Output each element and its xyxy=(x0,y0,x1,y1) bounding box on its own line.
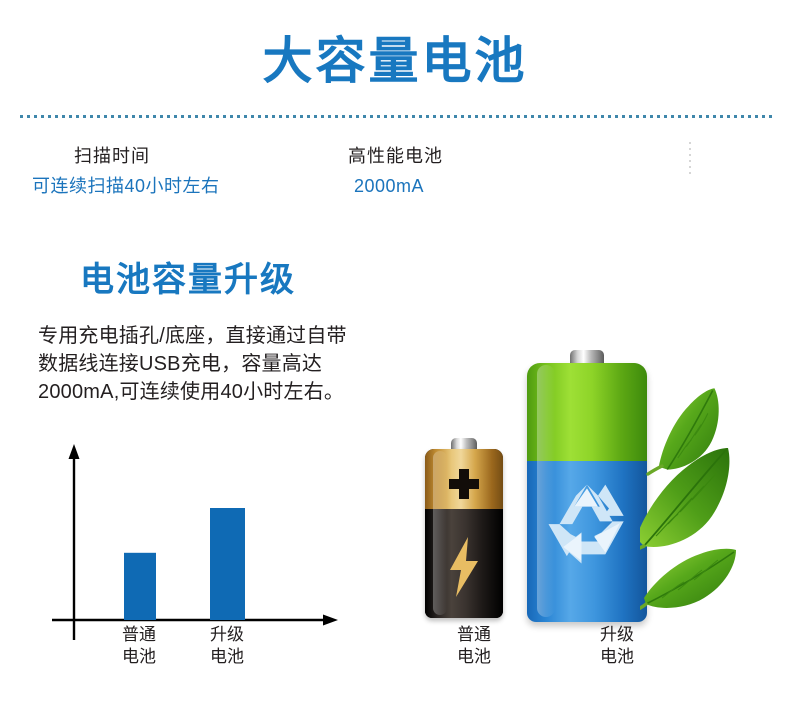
chart-category-label-upgraded: 升级 电池 xyxy=(192,624,262,668)
y-axis-arrowhead xyxy=(69,444,80,459)
battery-body xyxy=(425,449,503,618)
section-heading: 电池容量升级 xyxy=(80,258,296,302)
leaf-bottom xyxy=(640,549,736,612)
spec-value: 可连续扫描40小时左右 xyxy=(32,173,220,199)
spec-item-battery: 高性能电池 2000mA xyxy=(348,143,443,199)
battery-body xyxy=(527,363,647,622)
battery-gloss-highlight xyxy=(433,451,447,615)
upgraded-battery-icon xyxy=(527,350,647,622)
section-body-text: 专用充电插孔/底座，直接通过自带数据线连接USB充电，容量高达2000mA,可连… xyxy=(38,322,358,406)
battery-label-ordinary: 普通 电池 xyxy=(434,624,514,668)
spec-value: 2000mA xyxy=(348,173,443,199)
battery-gloss-highlight xyxy=(537,365,555,617)
spec-row: 扫描时间 可连续扫描40小时左右 高性能电池 2000mA xyxy=(0,143,790,203)
battery-label-upgraded: 升级 电池 xyxy=(577,624,657,668)
bar-upgraded xyxy=(210,508,245,620)
plus-sign-icon xyxy=(449,469,479,499)
promo-page: 大容量电池 扫描时间 可连续扫描40小时左右 高性能电池 2000mA 电池容量… xyxy=(0,0,790,707)
header-dotted-divider xyxy=(20,115,772,118)
lightning-bolt-icon xyxy=(446,537,482,602)
ordinary-battery-icon xyxy=(425,438,503,618)
spec-title: 高性能电池 xyxy=(348,143,443,169)
spec-title: 扫描时间 xyxy=(32,143,220,169)
green-leaves-icon xyxy=(640,370,790,620)
bar-ordinary xyxy=(124,553,156,620)
spec-item-scan-time: 扫描时间 可连续扫描40小时左右 xyxy=(32,143,220,199)
spec-vertical-dotted-divider xyxy=(689,142,691,174)
chart-category-label-ordinary: 普通 电池 xyxy=(104,624,174,668)
page-title: 大容量电池 xyxy=(0,30,790,92)
x-axis-arrowhead xyxy=(323,615,338,626)
